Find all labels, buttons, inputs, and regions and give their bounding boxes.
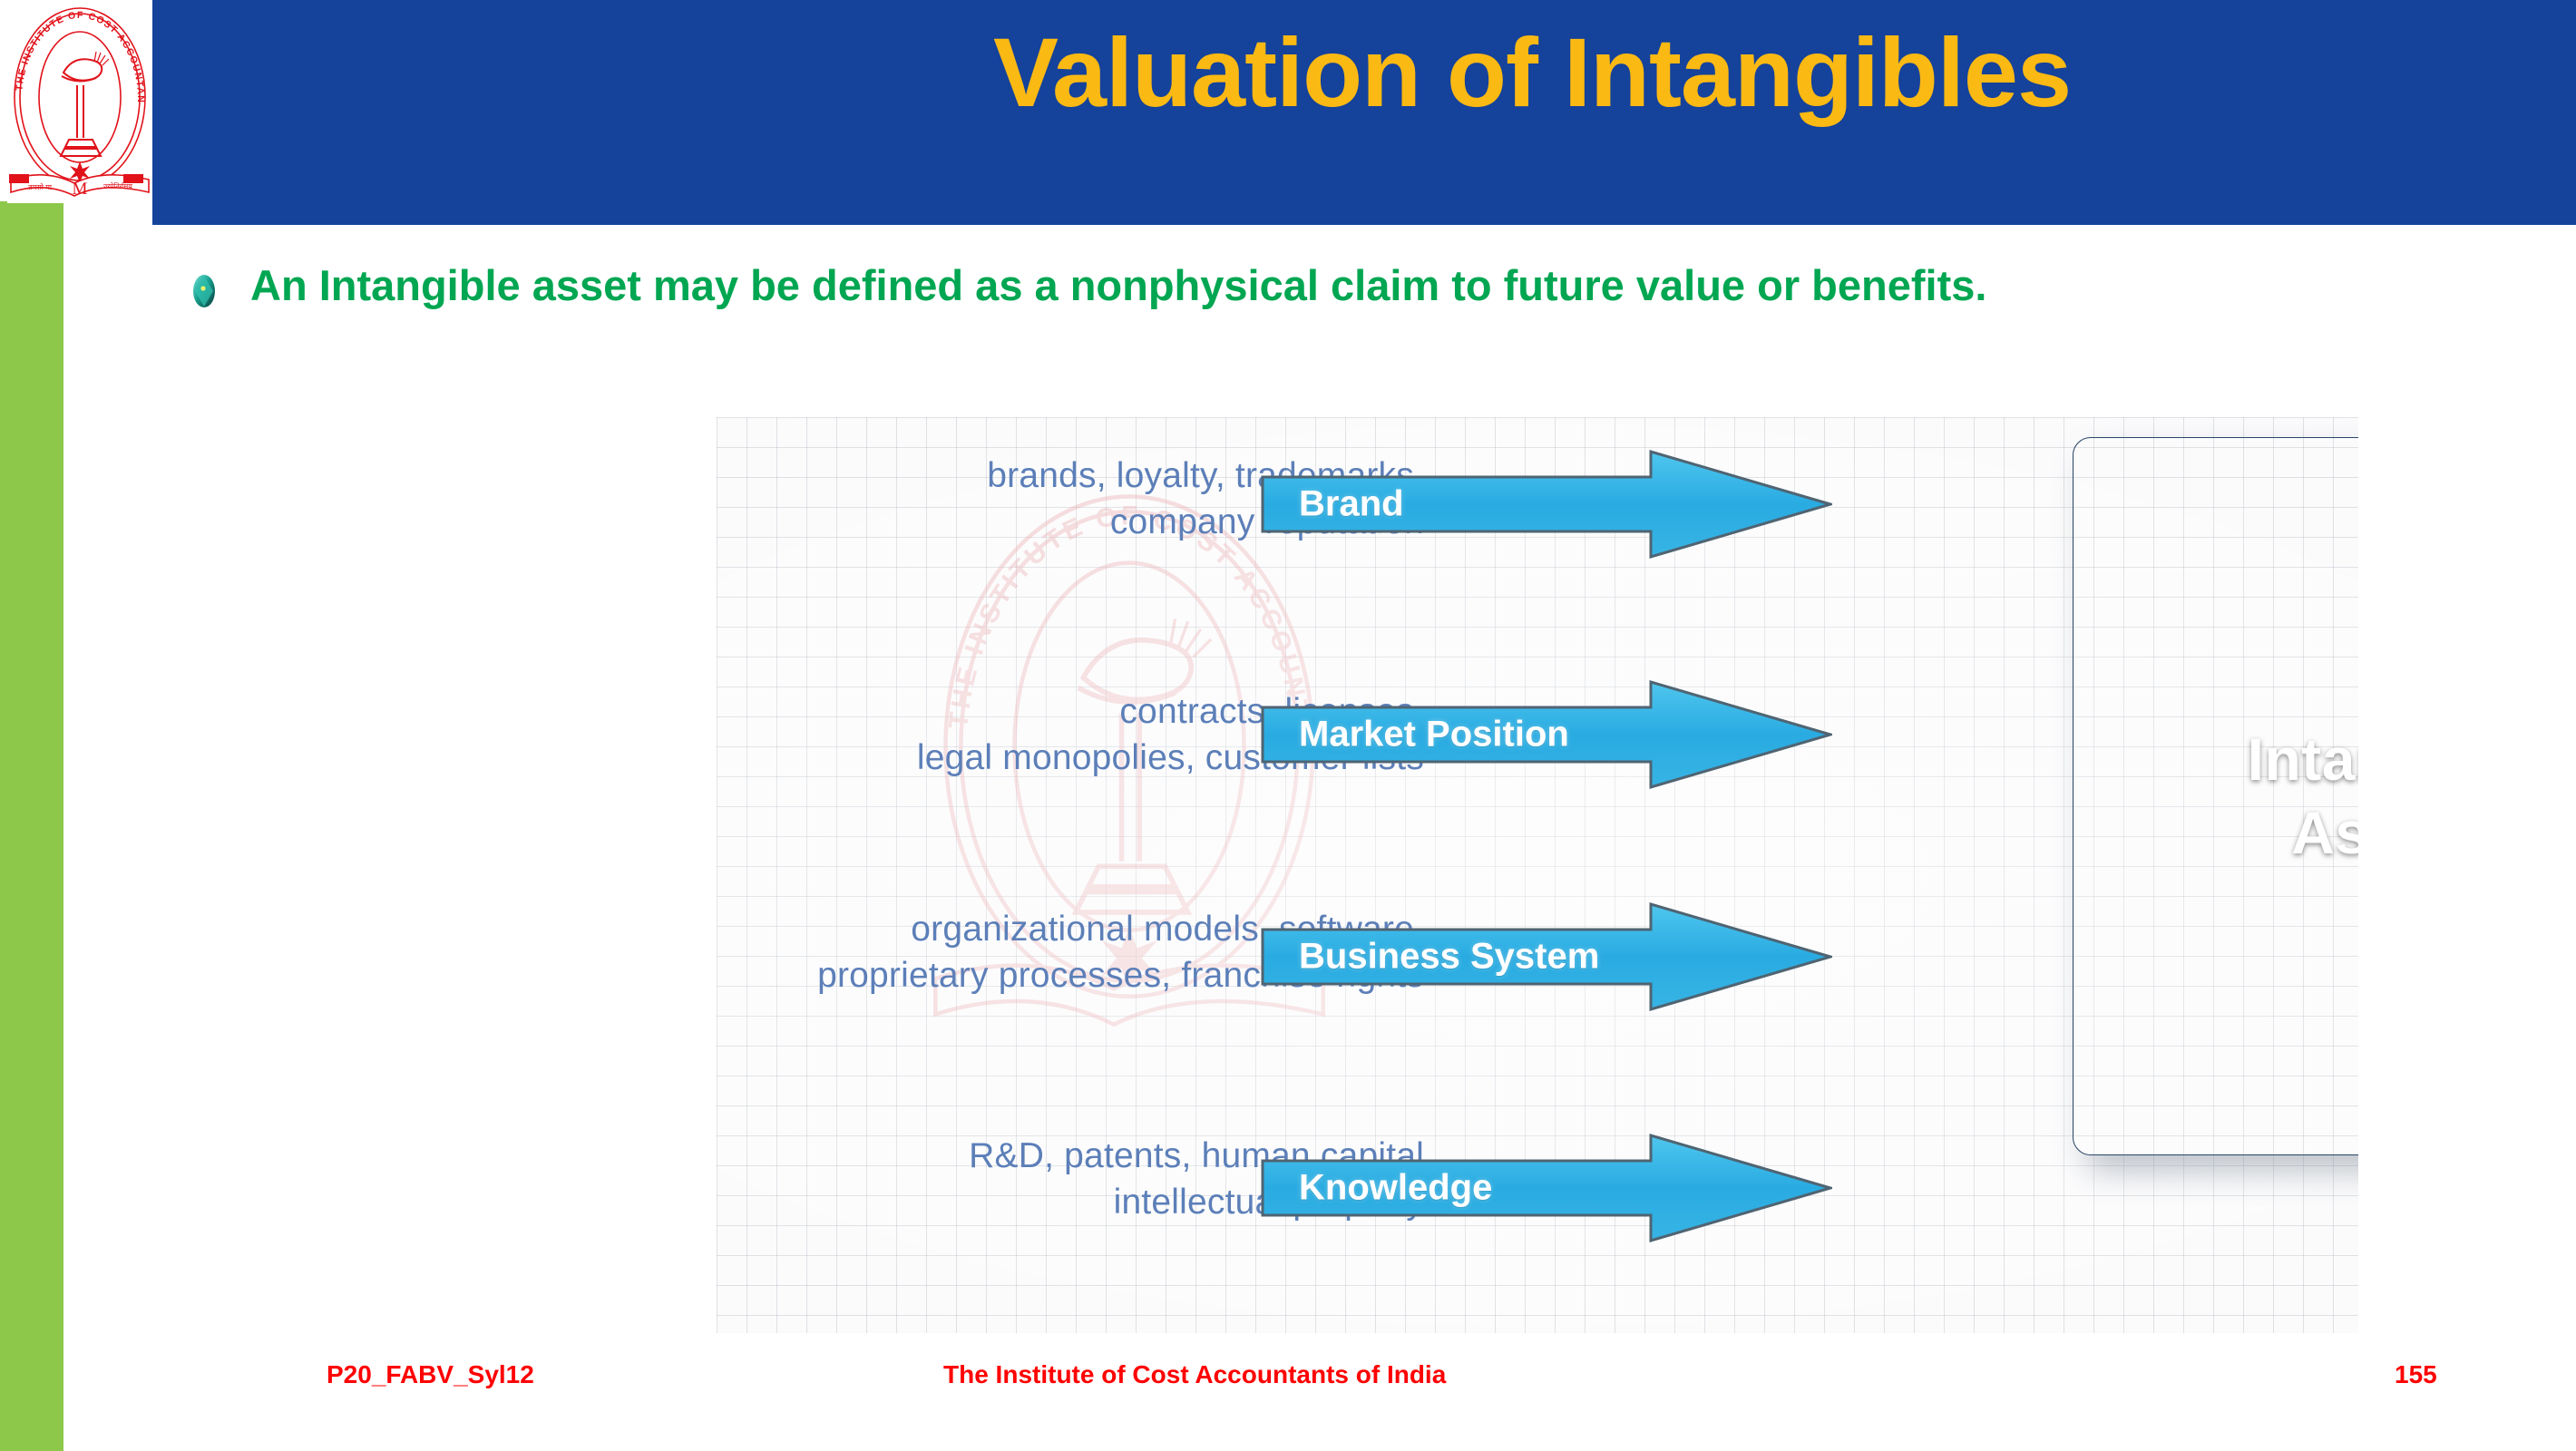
arrow-label-market-position: Market Position xyxy=(1299,715,1569,755)
arrow-knowledge: Knowledge xyxy=(1261,1134,1832,1242)
arrow-label-brand: Brand xyxy=(1299,484,1404,525)
intangible-assets-box: Intangible Assets xyxy=(2073,437,2358,1155)
footer-organisation: The Institute of Cost Accountants of Ind… xyxy=(943,1360,1446,1389)
footer-course-code: P20_FABV_Syl12 xyxy=(327,1360,534,1389)
slide-footer: P20_FABV_Syl12 The Institute of Cost Acc… xyxy=(0,1360,2576,1415)
title-banner: Valuation of Intangibles xyxy=(152,0,2576,225)
diagram-canvas: THE INSTITUTE OF COST ACCOUNTANTS OF IND… xyxy=(717,417,2358,1333)
arrow-brand: Brand xyxy=(1261,450,1832,559)
intangible-assets-diagram: THE INSTITUTE OF COST ACCOUNTANTS OF IND… xyxy=(272,417,2358,1333)
intangible-assets-line1: Intangible xyxy=(2248,723,2358,796)
footer-page-number: 155 xyxy=(2395,1360,2437,1389)
slide-root: Valuation of Intangibles THE INSTITUTE O… xyxy=(0,0,2576,1451)
institute-logo-icon: THE INSTITUTE OF COST ACCOUNTANTS OF IND… xyxy=(7,2,152,203)
institute-logo: THE INSTITUTE OF COST ACCOUNTANTS OF IND… xyxy=(7,2,152,203)
arrow-business-system: Business System xyxy=(1261,902,1832,1011)
page-title: Valuation of Intangibles xyxy=(152,24,2576,122)
svg-text:M: M xyxy=(73,180,88,199)
bullet-text: An Intangible asset may be defined as a … xyxy=(250,261,1986,311)
arrow-label-business-system: Business System xyxy=(1299,937,1599,978)
arrow-label-knowledge: Knowledge xyxy=(1299,1168,1492,1209)
left-accent-strip xyxy=(0,201,63,1451)
arrow-market-position: Market Position xyxy=(1261,680,1832,789)
bullet-row: An Intangible asset may be defined as a … xyxy=(189,261,2093,311)
intangible-assets-line2: Assets xyxy=(2248,796,2358,870)
gem-bullet-icon xyxy=(189,274,220,308)
svg-text:तमसो मा: तमसो मा xyxy=(28,182,53,191)
svg-text:ज्योतिर्गमय: ज्योतिर्गमय xyxy=(103,181,132,190)
intangible-assets-box-label: Intangible Assets xyxy=(2248,723,2358,869)
